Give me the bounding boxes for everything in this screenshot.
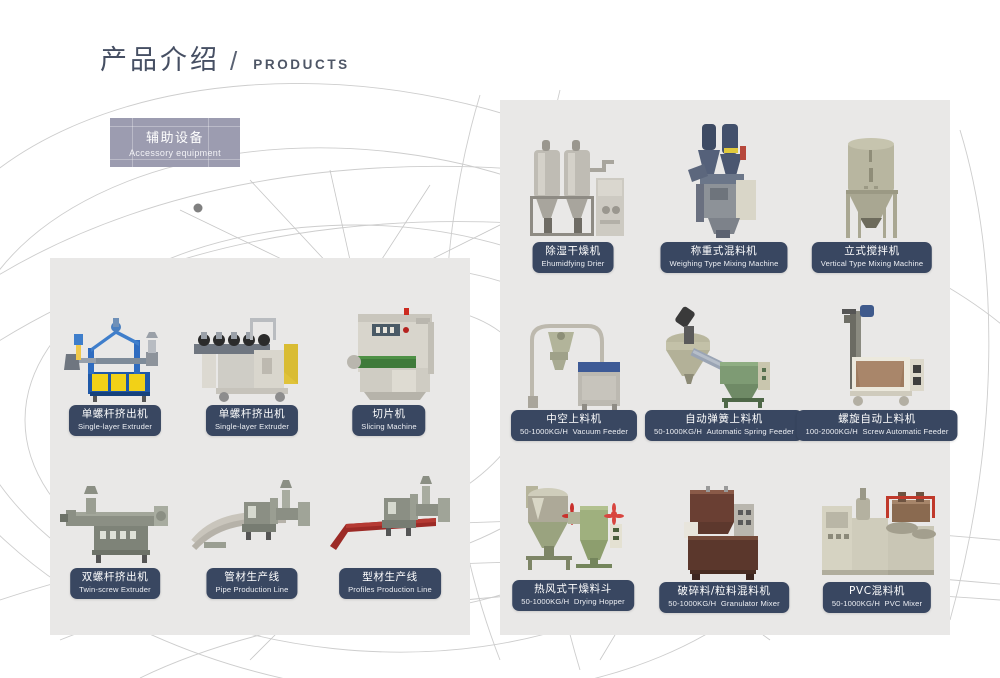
product-cell[interactable]: PVC混料机 50-1000KG/H PVC Mixer	[816, 478, 938, 612]
product-label-en: Profiles Production Line	[348, 585, 432, 595]
page-title: 产品介绍 / PRODUCTS	[100, 47, 350, 74]
product-label-en: Ehumidfying Drier	[542, 259, 605, 269]
product-cell[interactable]: 热风式干燥料斗 50-1000KG/H Drying Hopper	[514, 470, 632, 610]
product-label-en: Twin-screw Extruder	[79, 585, 151, 595]
product-label-en: 100-2000KG/H Screw Automatic Feeder	[805, 427, 948, 437]
slicing-machine-icon	[330, 300, 448, 405]
screw-feeder-icon	[822, 295, 932, 410]
product-cell[interactable]: 中空上料机 50-1000KG/H Vacuum Feeder	[516, 300, 632, 440]
product-cell[interactable]: 立式搅拌机 Vertical Type Mixing Machine	[826, 128, 918, 270]
product-label-cn: 切片机	[361, 408, 416, 421]
product-catalog-page: 产品介绍 / PRODUCTS 辅助设备 Accessory equipment	[0, 0, 1000, 678]
drying-hopper-icon	[514, 470, 632, 580]
product-label-cn: 称重式混料机	[669, 245, 778, 258]
product-label-en: 50-1000KG/H Vacuum Feeder	[520, 427, 628, 437]
product-badge[interactable]: 除湿干燥机 Ehumidfying Drier	[533, 242, 614, 273]
product-badge[interactable]: 管材生产线 Pipe Production Line	[206, 568, 297, 599]
product-badge[interactable]: 单螺杆挤出机 Single-layer Extruder	[206, 405, 298, 436]
product-label-en: Single-layer Extruder	[78, 422, 152, 432]
product-label-cn: 管材生产线	[215, 571, 288, 584]
product-label-cn: 单螺杆挤出机	[78, 408, 152, 421]
product-label-cn: PVC混料机	[832, 585, 922, 598]
product-cell[interactable]: 切片机 Slicing Machine	[330, 300, 448, 435]
product-label-en: 50-1000KG/H Automatic Spring Feeder	[654, 427, 794, 437]
product-label-en: 50-1000KG/H Granulator Mixer	[668, 599, 780, 609]
profiles-production-line-icon	[328, 468, 452, 568]
product-badge[interactable]: 切片机 Slicing Machine	[352, 405, 425, 436]
product-badge[interactable]: 称重式混料机 Weighing Type Mixing Machine	[660, 242, 787, 273]
page-title-cn: 产品介绍	[100, 47, 220, 74]
product-cell[interactable]: 自动弹簧上料机 50-1000KG/H Automatic Spring Fee…	[664, 300, 784, 440]
pipe-production-line-icon	[190, 468, 314, 568]
dehumidifying-drier-icon	[518, 130, 628, 242]
product-cell[interactable]: 称重式混料机 Weighing Type Mixing Machine	[678, 118, 770, 270]
title-divider: /	[230, 48, 237, 74]
product-badge[interactable]: 自动弹簧上料机 50-1000KG/H Automatic Spring Fee…	[645, 410, 803, 441]
product-cell[interactable]: 型材生产线 Profiles Production Line	[328, 468, 452, 598]
product-label-en: 50-1000KG/H PVC Mixer	[832, 599, 922, 609]
accessory-equipment-tag: 辅助设备 Accessory equipment	[110, 118, 240, 167]
granulator-mixer-icon	[676, 482, 772, 582]
product-badge[interactable]: 中空上料机 50-1000KG/H Vacuum Feeder	[511, 410, 637, 441]
product-cell[interactable]: 螺旋自动上料机 100-2000KG/H Screw Automatic Fee…	[822, 295, 932, 440]
product-cell[interactable]: 管材生产线 Pipe Production Line	[190, 468, 314, 598]
product-label-cn: 中空上料机	[520, 413, 628, 426]
product-label-en: Weighing Type Mixing Machine	[669, 259, 778, 269]
page-title-en: PRODUCTS	[253, 58, 350, 75]
product-label-cn: 自动弹簧上料机	[654, 413, 794, 426]
pvc-mixer-icon	[816, 478, 938, 582]
product-label-cn: 单螺杆挤出机	[215, 408, 289, 421]
product-label-en: 50-1000KG/H Drying Hopper	[521, 597, 625, 607]
extruder-blue-yellow-icon	[60, 300, 170, 405]
product-label-cn: 热风式干燥料斗	[521, 583, 625, 596]
product-badge[interactable]: 立式搅拌机 Vertical Type Mixing Machine	[812, 242, 932, 273]
product-badge[interactable]: 型材生产线 Profiles Production Line	[339, 568, 441, 599]
product-cell[interactable]: 单螺杆挤出机 Single-layer Extruder	[60, 300, 170, 435]
vacuum-feeder-icon	[516, 300, 632, 410]
product-label-en: Pipe Production Line	[215, 585, 288, 595]
product-cell[interactable]: 破碎料/粒料混料机 50-1000KG/H Granulator Mixer	[676, 482, 772, 612]
product-label-en: Slicing Machine	[361, 422, 416, 432]
product-badge[interactable]: 单螺杆挤出机 Single-layer Extruder	[69, 405, 161, 436]
twin-screw-extruder-icon	[58, 468, 172, 568]
product-badge[interactable]: 双螺杆挤出机 Twin-screw Extruder	[70, 568, 160, 599]
product-cell[interactable]: 除湿干燥机 Ehumidfying Drier	[518, 130, 628, 270]
accessory-tag-label-cn: 辅助设备	[146, 127, 204, 146]
product-label-en: Single-layer Extruder	[215, 422, 289, 432]
product-label-cn: 双螺杆挤出机	[79, 571, 151, 584]
product-badge[interactable]: 热风式干燥料斗 50-1000KG/H Drying Hopper	[512, 580, 634, 611]
product-label-cn: 螺旋自动上料机	[805, 413, 948, 426]
product-label-cn: 立式搅拌机	[821, 245, 923, 258]
product-cell[interactable]: 双螺杆挤出机 Twin-screw Extruder	[58, 468, 172, 598]
weighing-mixer-icon	[678, 118, 770, 242]
product-cell[interactable]: 单螺杆挤出机 Single-layer Extruder	[188, 300, 316, 435]
product-label-cn: 除湿干燥机	[542, 245, 605, 258]
product-label-cn: 型材生产线	[348, 571, 432, 584]
accessory-tag-label-en: Accessory equipment	[129, 148, 221, 158]
spring-feeder-icon	[664, 300, 784, 410]
vertical-mixer-icon	[826, 128, 918, 242]
product-badge[interactable]: 破碎料/粒料混料机 50-1000KG/H Granulator Mixer	[659, 582, 789, 613]
product-badge[interactable]: PVC混料机 50-1000KG/H PVC Mixer	[823, 582, 931, 613]
product-label-en: Vertical Type Mixing Machine	[821, 259, 923, 269]
product-label-cn: 破碎料/粒料混料机	[668, 585, 780, 598]
roller-conveyor-machine-icon	[188, 300, 316, 405]
product-badge[interactable]: 螺旋自动上料机 100-2000KG/H Screw Automatic Fee…	[796, 410, 957, 441]
